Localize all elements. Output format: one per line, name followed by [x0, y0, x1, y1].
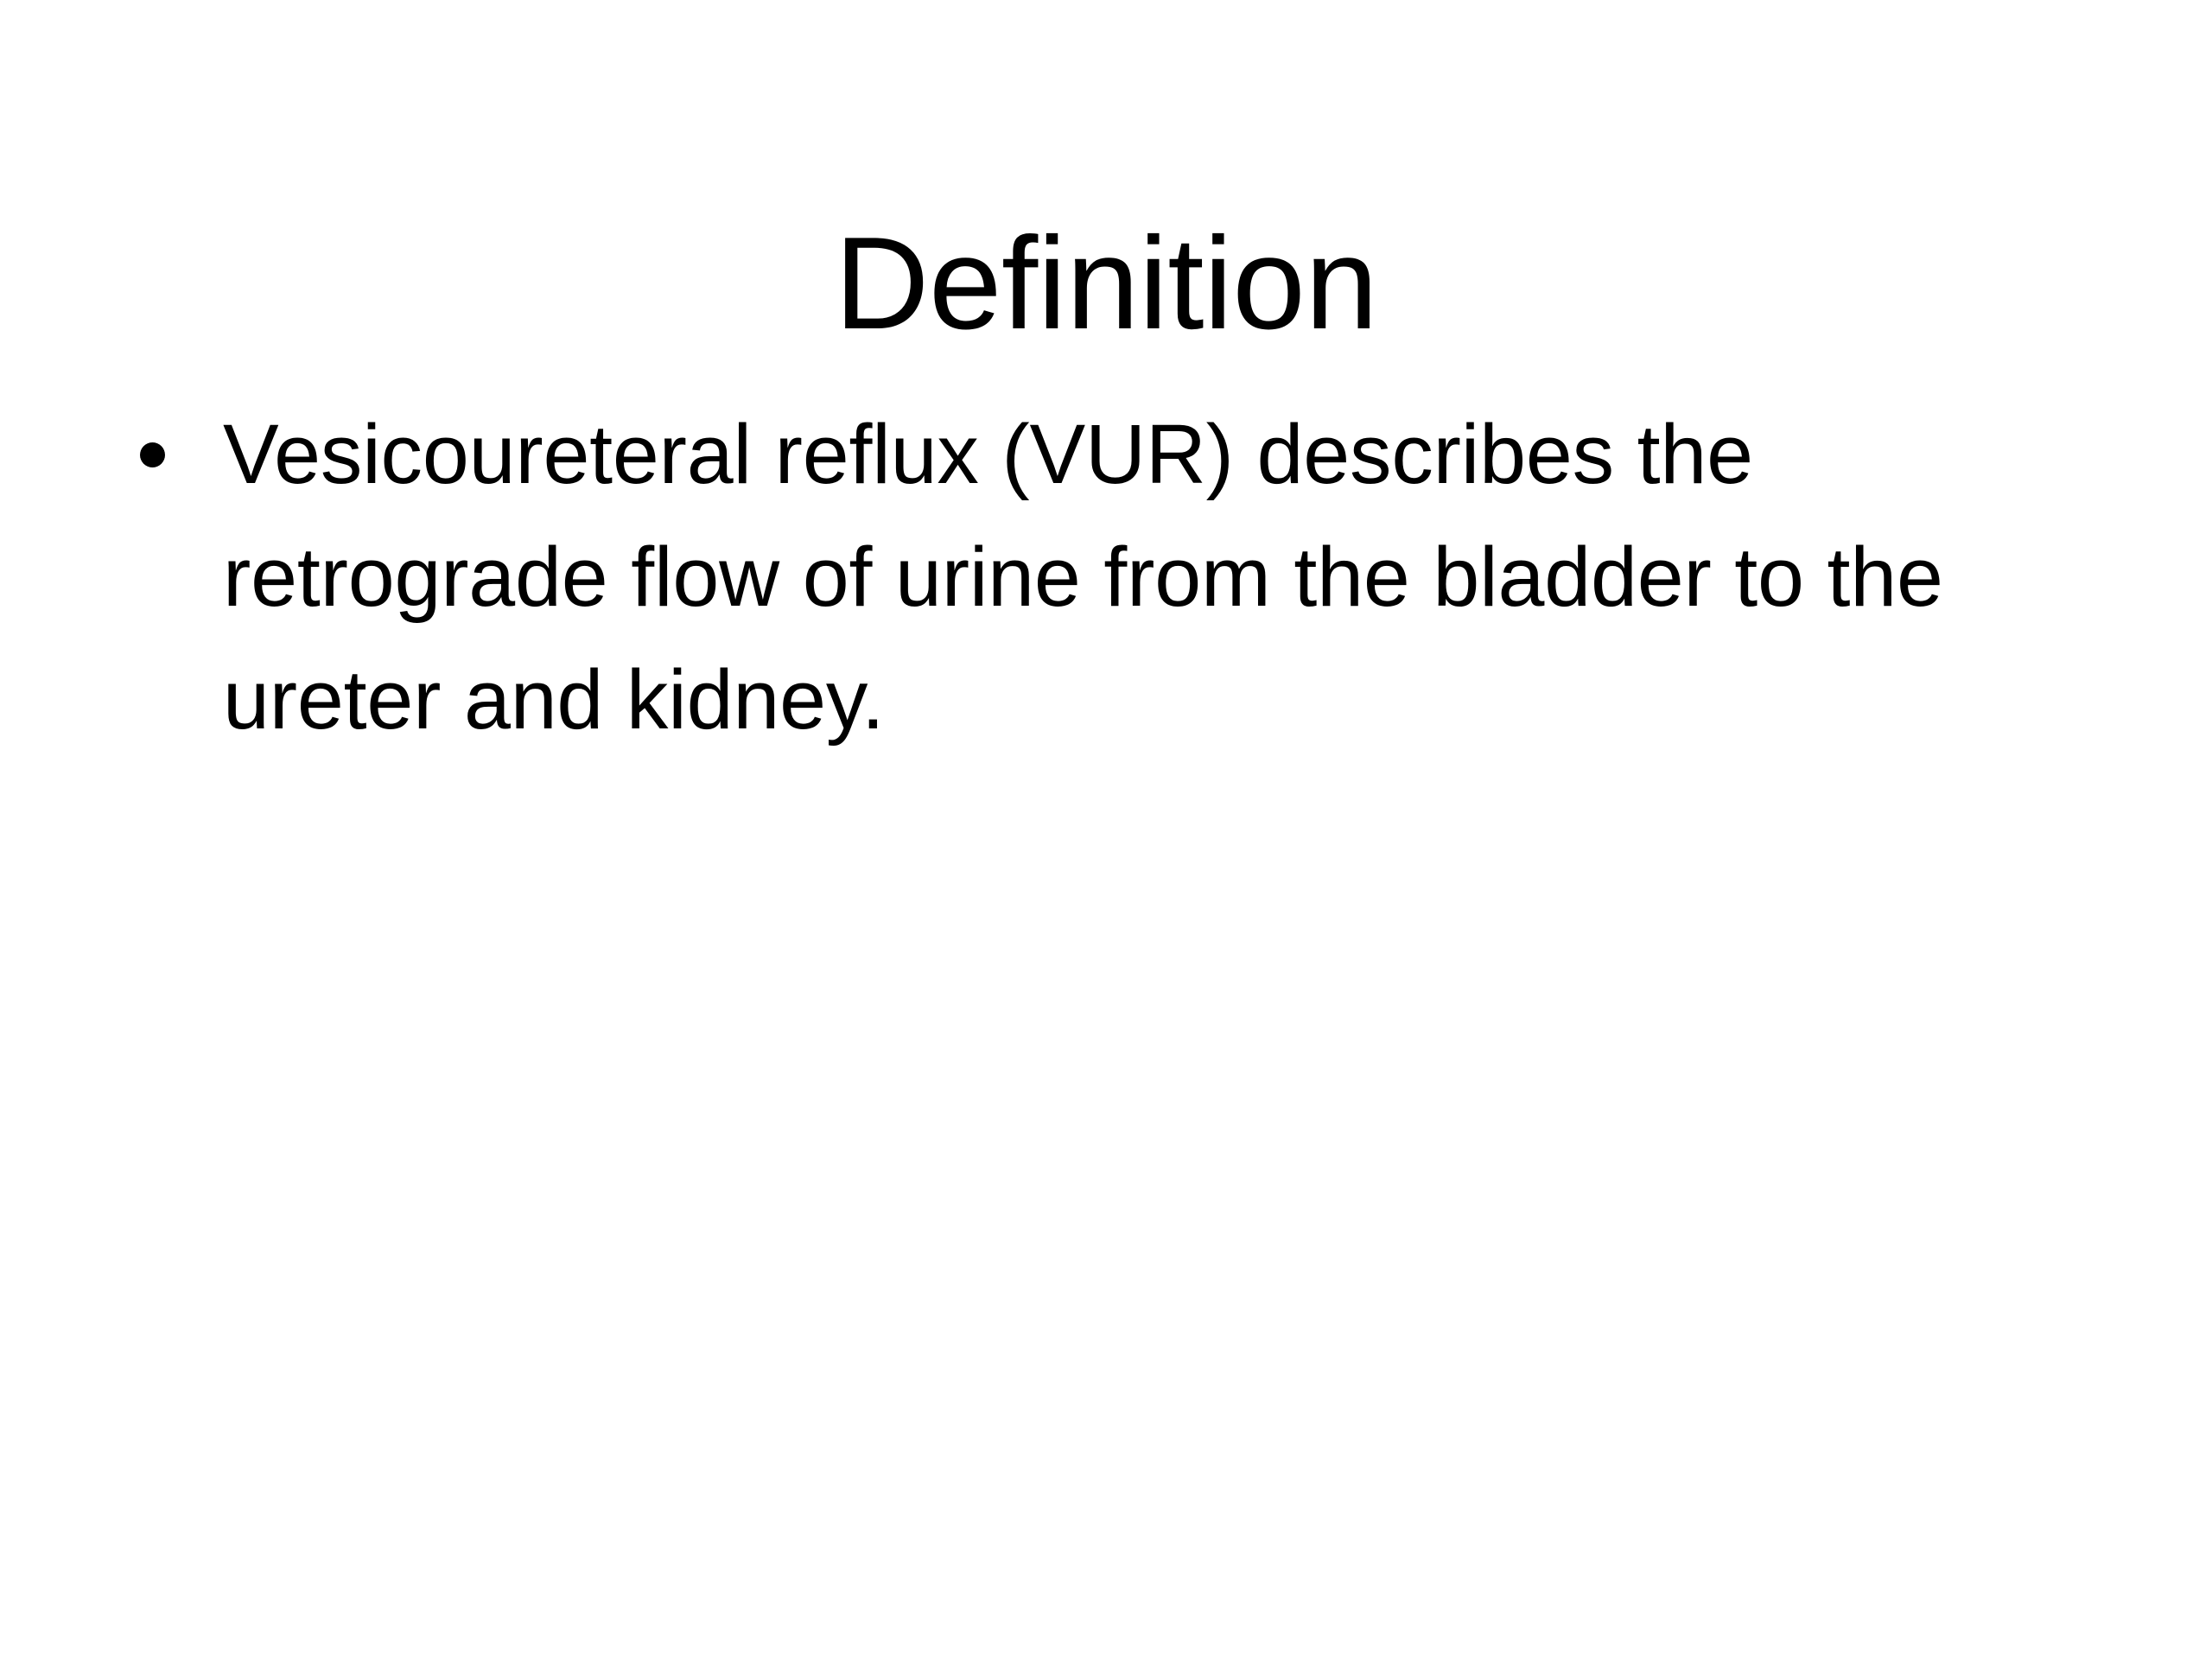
presentation-slide: Definition Vesicoureteral reflux (VUR) d…: [0, 0, 2212, 1659]
slide-body: Vesicoureteral reflux (VUR) describes th…: [121, 393, 2100, 761]
bullet-dot-icon: [140, 442, 165, 467]
slide-title: Definition: [0, 218, 2212, 349]
bullet-list-item: Vesicoureteral reflux (VUR) describes th…: [121, 393, 2100, 761]
bullet-item-text: Vesicoureteral reflux (VUR) describes th…: [223, 393, 2100, 761]
